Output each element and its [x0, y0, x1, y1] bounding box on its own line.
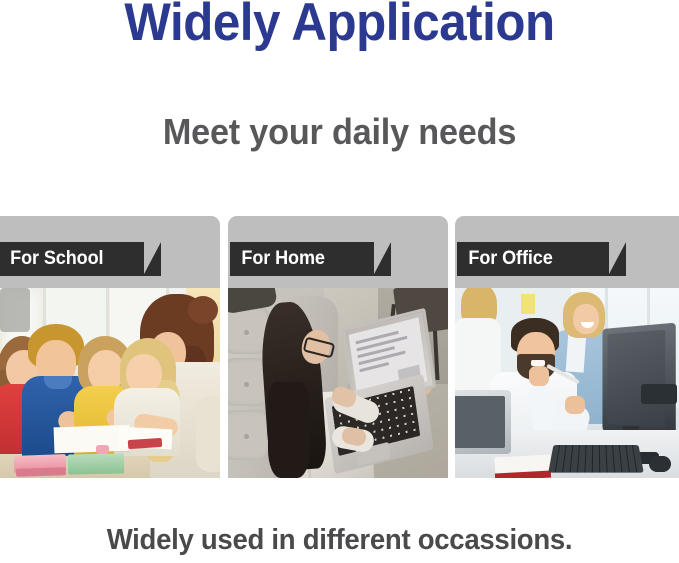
banner-label-office: For Office — [457, 248, 553, 270]
panel-office: For Office — [455, 216, 679, 478]
cushion-tuft — [244, 434, 249, 439]
banner-label-home: For Home — [230, 248, 325, 270]
eraser — [96, 445, 109, 454]
colleague-face — [573, 304, 599, 334]
sticky-note — [521, 294, 535, 314]
mouse — [649, 456, 671, 472]
green-notebook — [68, 454, 124, 475]
sofa-cushion — [228, 410, 270, 460]
cushion-tuft — [244, 382, 249, 387]
monitor-screen — [607, 330, 665, 429]
living-room-illustration — [228, 288, 448, 478]
photo-home — [228, 288, 448, 478]
polo-collar — [44, 376, 72, 389]
panel-home: For Home — [228, 216, 448, 478]
page-subtitle: Meet your daily needs — [17, 111, 662, 153]
page-title: Widely Application — [24, 0, 655, 55]
use-case-panels: For School — [0, 216, 679, 478]
classroom-illustration — [0, 288, 220, 478]
banner-home: For Home — [230, 242, 374, 276]
second-monitor-screen — [455, 396, 505, 448]
teacher-arm — [196, 396, 220, 472]
photo-office — [455, 288, 679, 478]
classroom-chair — [0, 288, 30, 332]
office-illustration — [455, 288, 679, 478]
promo-banner: Widely Application Meet your daily needs… — [0, 0, 679, 563]
photo-school — [0, 288, 220, 478]
cushion-tuft — [244, 330, 249, 335]
person-hair-strand — [268, 382, 310, 478]
banner-office: For Office — [457, 242, 609, 276]
man-hand — [529, 366, 549, 386]
banner-school: For School — [0, 242, 144, 276]
teacher-bun — [188, 296, 218, 324]
footer-caption: Widely used in different occassions. — [17, 524, 662, 557]
keyboard — [548, 445, 644, 473]
man-hand — [565, 396, 585, 414]
monitor-cable-box — [641, 384, 677, 404]
panel-school: For School — [0, 216, 220, 478]
banner-label-school: For School — [0, 248, 103, 270]
